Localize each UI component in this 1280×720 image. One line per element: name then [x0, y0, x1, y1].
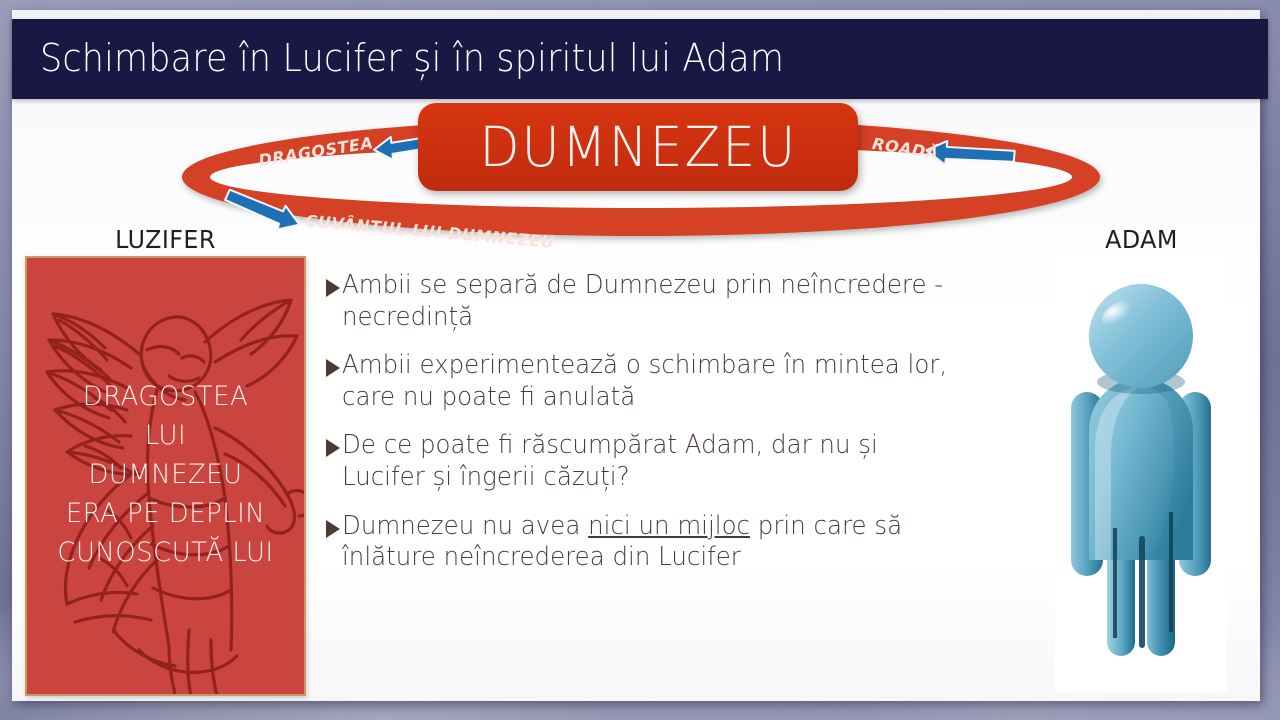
- list-item: De ce poate fi răscumpărat Adam, dar nu …: [326, 430, 976, 493]
- luzifer-line: DRAGOSTEA: [33, 378, 299, 417]
- bullet-text-1: Ambii experimentează o schimbare în mint…: [342, 350, 951, 413]
- luzifer-line: DUMNEZEU: [33, 456, 299, 495]
- bullet-text-3: Dumnezeu nu avea nici un mijloc prin car…: [342, 511, 951, 574]
- list-item: Ambii experimentează o schimbare în mint…: [326, 350, 976, 413]
- dumnezeu-label: DUMNEZEU: [479, 115, 797, 179]
- luzifer-panel: DRAGOSTEA LUI DUMNEZEU ERA PE DEPLIN CUN…: [25, 256, 306, 696]
- luzifer-line: CUNOSCUTĂ LUI: [33, 534, 299, 573]
- triangle-right-icon: [326, 279, 340, 297]
- page-title: Schimbare în Lucifer și în spiritul lui …: [40, 36, 784, 80]
- luzifer-text-block: DRAGOSTEA LUI DUMNEZEU ERA PE DEPLIN CUN…: [33, 378, 299, 572]
- dumnezeu-center-shape: DUMNEZEU: [418, 103, 858, 191]
- bullet-text-2: De ce poate fi răscumpărat Adam, dar nu …: [342, 430, 951, 493]
- adam-heading: ADAM: [1058, 225, 1224, 254]
- bullet-list: Ambii se separă de Dumnezeu prin neîncre…: [326, 270, 976, 591]
- person-figure-icon: [1055, 260, 1227, 690]
- slide-title-bar: Schimbare în Lucifer și în spiritul lui …: [12, 19, 1268, 99]
- triangle-right-icon: [326, 359, 340, 377]
- luzifer-line: ERA PE DEPLIN: [33, 495, 299, 534]
- luzifer-heading: LUZIFER: [31, 225, 300, 254]
- list-item: Ambii se separă de Dumnezeu prin neîncre…: [326, 270, 976, 333]
- triangle-right-icon: [326, 439, 340, 457]
- triangle-right-icon: [326, 520, 340, 538]
- bullet-text-0: Ambii se separă de Dumnezeu prin neîncre…: [342, 270, 951, 333]
- list-item: Dumnezeu nu avea nici un mijloc prin car…: [326, 511, 976, 574]
- slide-background: Schimbare în Lucifer și în spiritul lui …: [0, 0, 1280, 720]
- adam-panel: [1055, 256, 1227, 692]
- luzifer-line: LUI: [33, 417, 299, 456]
